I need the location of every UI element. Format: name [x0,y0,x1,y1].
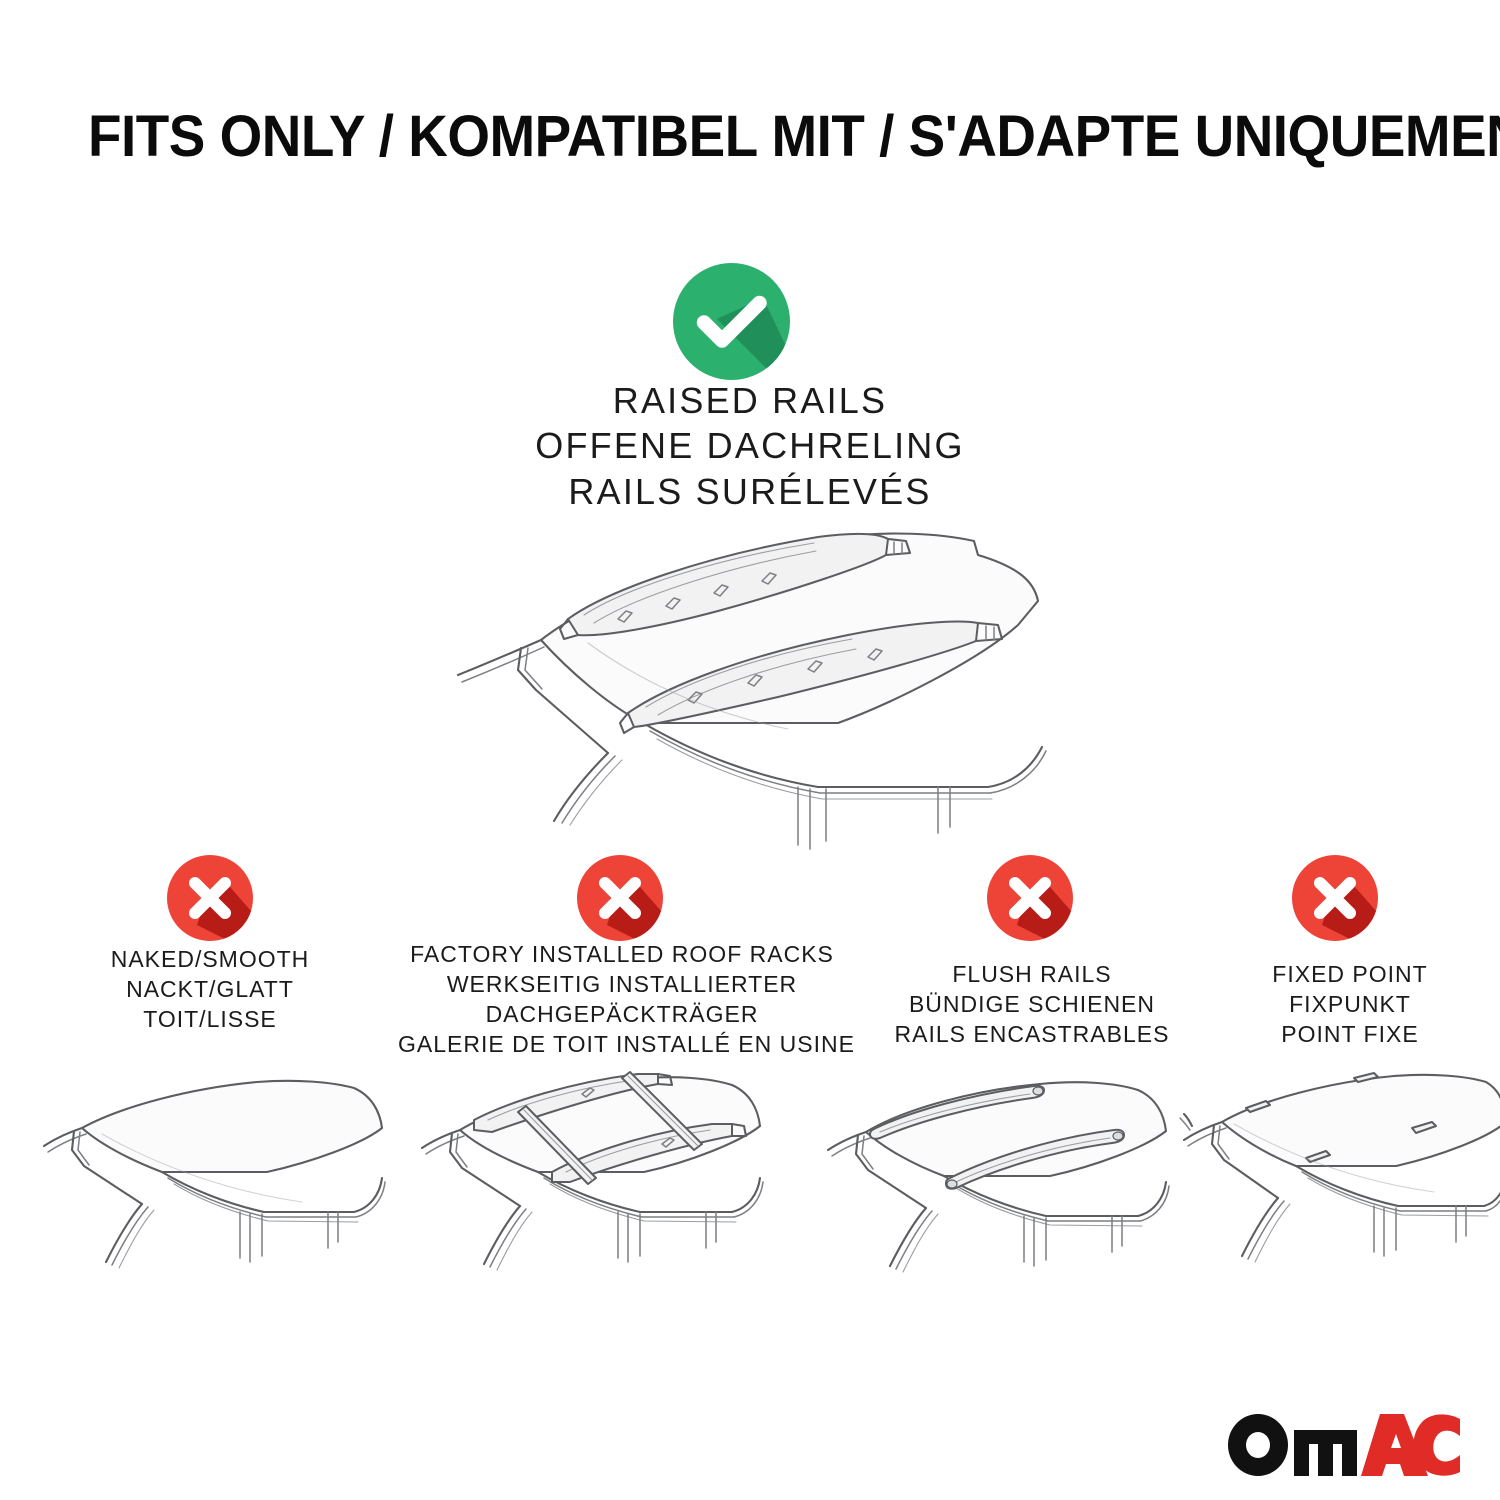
incompatible-label-naked-smooth: NAKED/SMOOTH NACKT/GLATT TOIT/LISSE [32,945,388,1035]
label-line: FACTORY INSTALLED ROOF RACKS [398,940,846,970]
omac-logo-letter-m [1294,1430,1357,1476]
incompatible-label-factory-racks: FACTORY INSTALLED ROOF RACKS WERKSEITIG … [398,940,846,1060]
incompatible-label-flush-rails: FLUSH RAILS BÜNDIGE SCHIENEN RAILS ENCAS… [856,960,1208,1050]
label-line: FLUSH RAILS [856,960,1208,990]
car-roof-fixed-point-illustration [1184,1062,1500,1287]
compatible-label: RAISED RAILS OFFENE DACHRELING RAILS SUR… [450,378,1050,514]
label-line: FIXPUNKT [1216,990,1484,1020]
car-roof-factory-racks-illustration [412,1052,792,1287]
compatibility-infographic: FITS ONLY / KOMPATIBEL MIT / S'ADAPTE UN… [0,0,1500,1500]
label-line: NACKT/GLATT [32,975,388,1005]
label-line: WERKSEITIG INSTALLIERTER [398,970,846,1000]
check-circle-icon [673,263,790,380]
incompatible-label-fixed-point: FIXED POINT FIXPUNKT POINT FIXE [1216,960,1484,1050]
label-line: TOIT/LISSE [32,1005,388,1035]
omac-logo [1228,1414,1460,1476]
compatible-label-line-1: RAISED RAILS [450,378,1050,423]
x-circle-icon-naked-smooth [167,855,253,941]
page-title: FITS ONLY / KOMPATIBEL MIT / S'ADAPTE UN… [88,108,1354,166]
label-line: RAILS ENCASTRABLES [856,1020,1208,1050]
label-line: FIXED POINT [1216,960,1484,990]
omac-logo-letter-o [1228,1414,1288,1476]
label-line: NAKED/SMOOTH [32,945,388,975]
car-roof-naked-smooth-illustration [42,1062,412,1282]
x-circle-icon-factory-racks [577,855,663,941]
car-roof-flush-rails-illustration [822,1062,1192,1287]
compatible-label-line-2: OFFENE DACHRELING [450,423,1050,468]
label-line: BÜNDIGE SCHIENEN [856,990,1208,1020]
car-roof-raised-rails-illustration [418,515,1088,825]
x-circle-icon-fixed-point [1292,855,1378,941]
label-line: DACHGEPÄCKTRÄGER [398,1000,846,1030]
compatible-label-line-3: RAILS SURÉLEVÉS [450,469,1050,514]
label-line: POINT FIXE [1216,1020,1484,1050]
x-circle-icon-flush-rails [987,855,1073,941]
